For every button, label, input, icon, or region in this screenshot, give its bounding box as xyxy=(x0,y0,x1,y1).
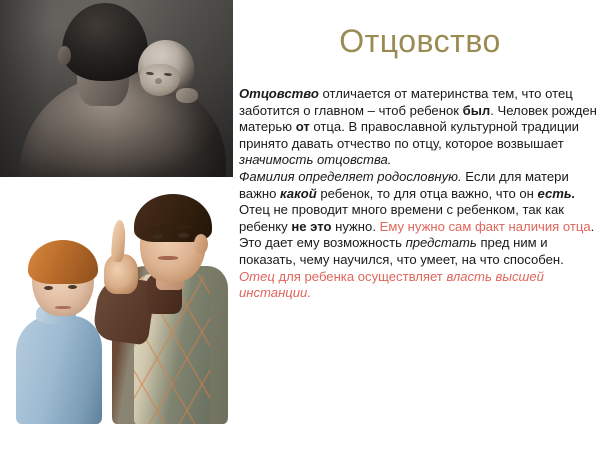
father-left-eye-shape xyxy=(152,234,163,239)
father-ear-shape xyxy=(194,234,208,254)
body-paragraph-2: Фамилия определяет родословную. Если для… xyxy=(239,169,600,302)
boy-body-shape xyxy=(16,316,102,424)
text-run: нужно. xyxy=(331,219,379,234)
boy-right-eye-shape xyxy=(68,285,77,289)
text-run: Фамилия определяет родословную. xyxy=(239,169,462,184)
body-paragraph-1: Отцовство отличается от материнства тем,… xyxy=(239,86,600,169)
father-back-with-baby-photo xyxy=(0,0,233,177)
slide-title: Отцовство xyxy=(246,24,594,59)
father-scolding-boy-photo xyxy=(0,182,228,424)
photo-vignette-overlay xyxy=(0,0,233,177)
father-right-eye-shape xyxy=(178,233,189,238)
father-mouth-shape xyxy=(158,256,178,260)
text-run: значимость отцовства. xyxy=(239,152,391,167)
text-run: Отец xyxy=(239,269,275,284)
presentation-slide: Отцовство Отцовство отличается от матери… xyxy=(0,0,600,450)
boy-mouth-shape xyxy=(55,306,71,309)
text-run: был xyxy=(463,103,491,118)
text-run: ребенок, то для отца важно, что он xyxy=(317,186,538,201)
boy-left-eye-shape xyxy=(44,286,53,290)
boy-hair-shape xyxy=(28,240,98,284)
slide-body-text: Отцовство отличается от материнства тем,… xyxy=(239,86,600,302)
text-run: от xyxy=(296,119,310,134)
text-run: есть. xyxy=(538,186,576,201)
text-run: для ребенка осуществляет xyxy=(275,269,447,284)
text-run: предстать xyxy=(406,235,477,250)
text-run: какой xyxy=(280,186,317,201)
text-run: Отцовство xyxy=(239,86,319,101)
text-run: не это xyxy=(291,219,331,234)
text-run: Ему нужно сам факт наличия отца xyxy=(380,219,591,234)
